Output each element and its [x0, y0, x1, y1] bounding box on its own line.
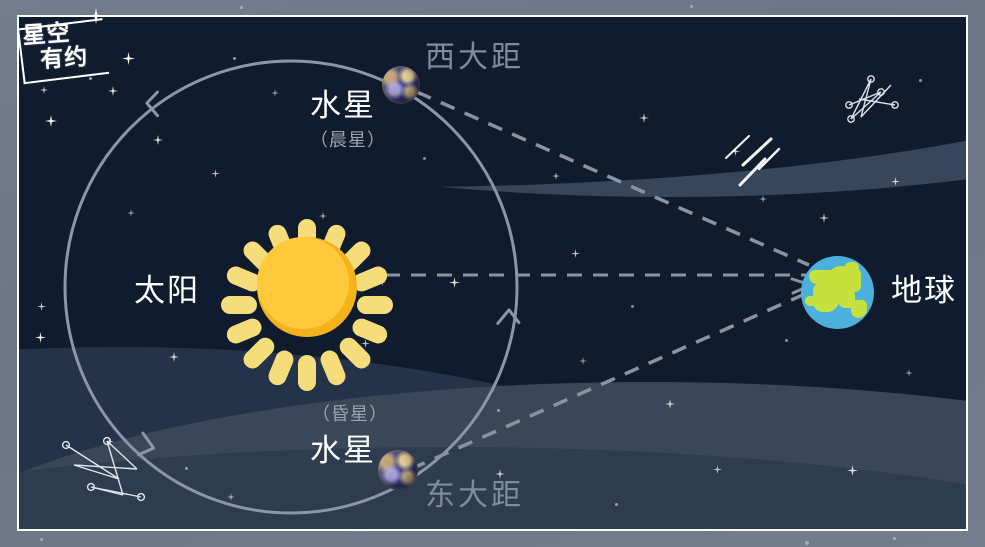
mercury-morning-label: 水星 — [310, 90, 376, 121]
mercury-evening-label: 水星 — [310, 435, 376, 466]
page-background: 太阳 西大距 水星 （晨星） （昏星） 水星 东大距 地球 — [0, 0, 985, 547]
logo-text: 星空 有约 — [22, 16, 125, 73]
night-sky: 太阳 西大距 水星 （晨星） （昏星） 水星 东大距 地球 — [19, 17, 966, 529]
east-elongation-label: 东大距 — [425, 481, 524, 511]
earth-label: 地球 — [891, 275, 957, 306]
margin-star — [40, 538, 43, 541]
mercury-morning-sublabel: （晨星） — [310, 131, 386, 149]
mercury-evening-sublabel: （昏星） — [312, 405, 388, 423]
sun-icon — [221, 201, 393, 373]
margin-star — [805, 541, 809, 545]
logo-line-2: 有约 — [39, 44, 89, 72]
mercury-morning-icon — [382, 66, 420, 104]
margin-star — [240, 6, 243, 9]
mercury-evening-icon — [378, 450, 418, 490]
west-elongation-sightline — [417, 92, 809, 265]
west-elongation-label: 西大距 — [425, 43, 524, 73]
margin-star — [893, 537, 896, 540]
margin-star — [690, 5, 693, 8]
brand-logo: 星空 有约 — [10, 7, 136, 93]
east-elongation-sightline — [411, 293, 807, 469]
earth-icon — [801, 256, 874, 329]
diagram-frame: 太阳 西大距 水星 （晨星） （昏星） 水星 东大距 地球 — [17, 15, 968, 531]
sun-label: 太阳 — [134, 275, 200, 306]
